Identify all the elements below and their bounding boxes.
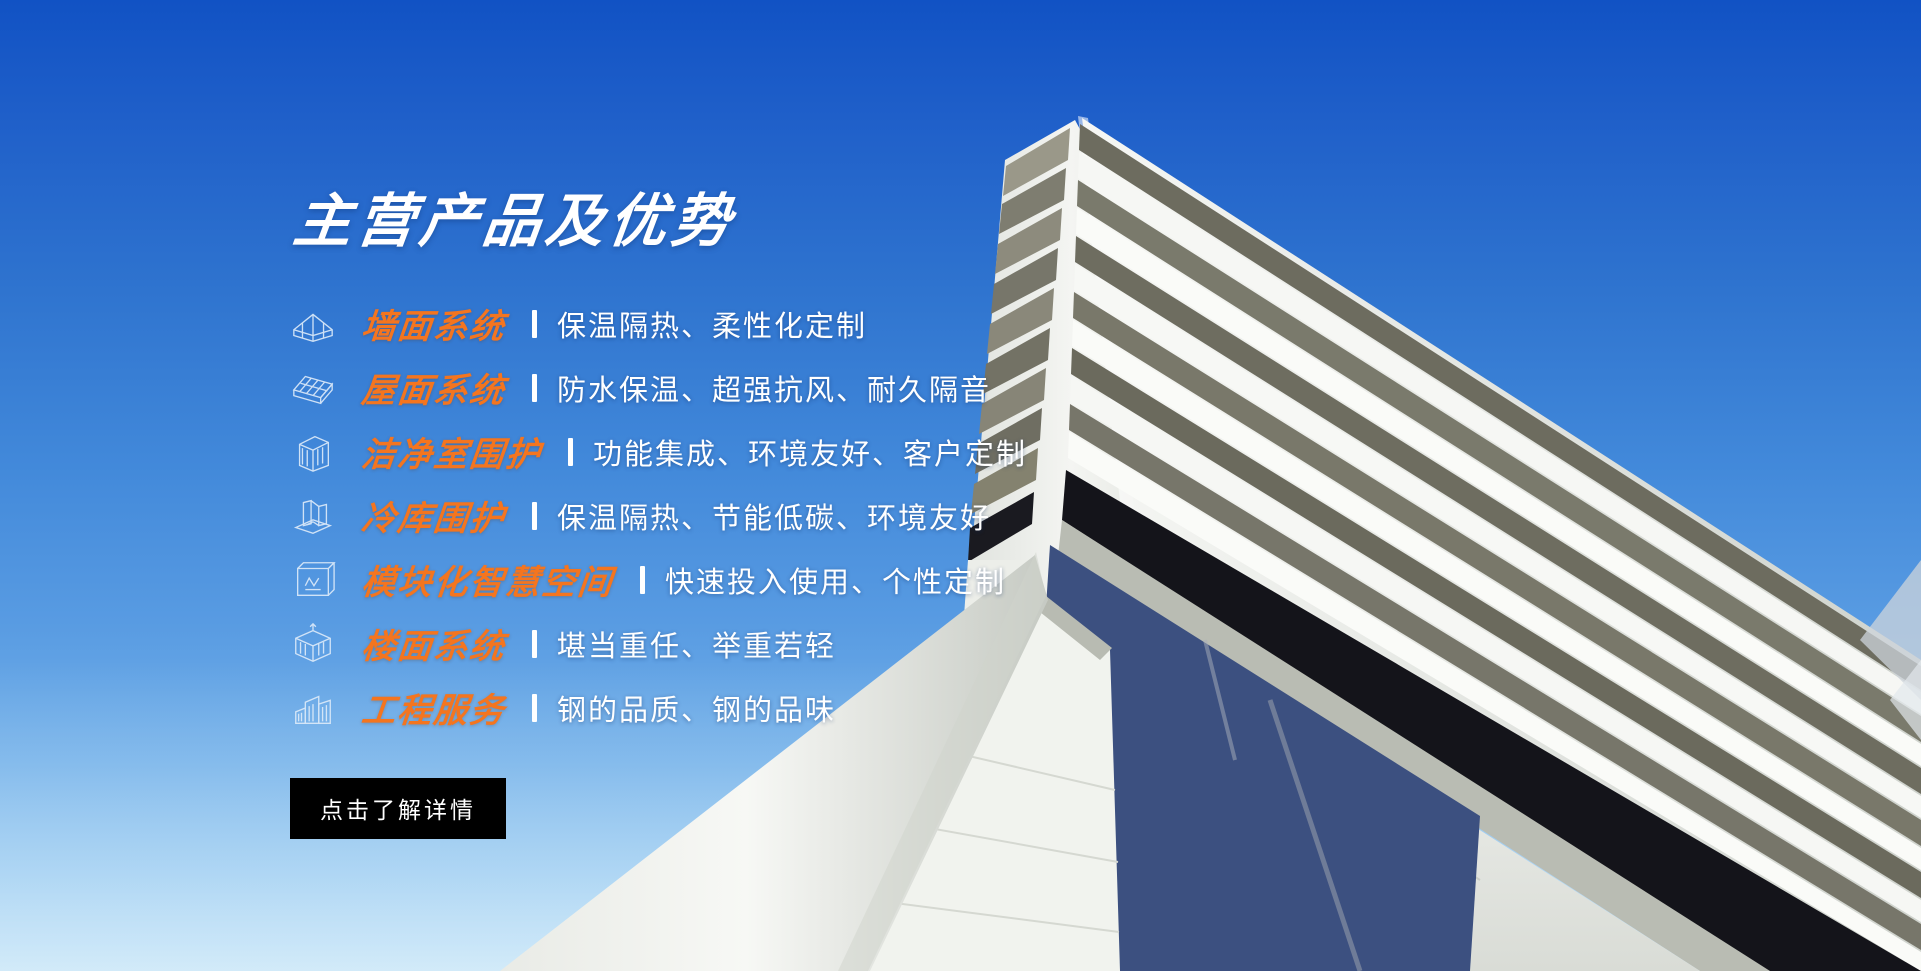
feature-list: 墙面系统 保温隔热、柔性化定制 屋面系统 防水保温、超强抗风、 [290,292,1390,740]
hero-banner: 主营产品及优势 墙面系统 保温隔热、柔性化定制 [0,0,1921,971]
list-item[interactable]: 楼面系统 堪当重任、举重若轻 [290,612,1390,676]
feature-title: 工程服务 [359,683,508,732]
floor-system-icon [290,621,336,667]
feature-separator [532,694,537,722]
feature-separator [532,374,537,402]
list-item[interactable]: 洁净室围护 功能集成、环境友好、客户定制 [290,420,1390,484]
feature-title: 楼面系统 [359,619,508,668]
banner-content: 主营产品及优势 墙面系统 保温隔热、柔性化定制 [290,190,1390,839]
list-item[interactable]: 工程服务 钢的品质、钢的品味 [290,676,1390,740]
list-item[interactable]: 冷库围护 保温隔热、节能低碳、环境友好 [290,484,1390,548]
feature-description: 防水保温、超强抗风、耐久隔音 [557,367,991,409]
page-title: 主营产品及优势 [290,190,1398,254]
feature-separator [568,438,573,466]
feature-separator [532,630,537,658]
feature-description: 功能集成、环境友好、客户定制 [593,431,1027,473]
wall-system-icon [290,301,336,347]
feature-description: 快速投入使用、个性定制 [665,559,1006,601]
list-item[interactable]: 模块化智慧空间 快速投入使用、个性定制 [290,548,1390,612]
roof-system-icon [290,365,336,411]
list-item[interactable]: 屋面系统 防水保温、超强抗风、耐久隔音 [290,356,1390,420]
feature-separator [640,566,645,594]
engineering-service-icon [290,685,336,731]
feature-description: 保温隔热、节能低碳、环境友好 [557,495,991,537]
cleanroom-enclosure-icon [290,429,336,475]
feature-separator [532,502,537,530]
modular-smart-space-icon [290,557,336,603]
feature-description: 钢的品质、钢的品味 [557,687,836,729]
feature-title: 墙面系统 [359,299,508,348]
feature-title: 模块化智慧空间 [359,555,616,604]
feature-title: 屋面系统 [359,363,508,412]
feature-description: 保温隔热、柔性化定制 [557,303,867,345]
feature-description: 堪当重任、举重若轻 [557,623,836,665]
feature-title: 冷库围护 [359,491,508,540]
feature-title: 洁净室围护 [359,427,544,476]
list-item[interactable]: 墙面系统 保温隔热、柔性化定制 [290,292,1390,356]
cold-storage-enclosure-icon [290,493,336,539]
learn-more-button[interactable]: 点击了解详情 [290,778,506,839]
feature-separator [532,310,537,338]
